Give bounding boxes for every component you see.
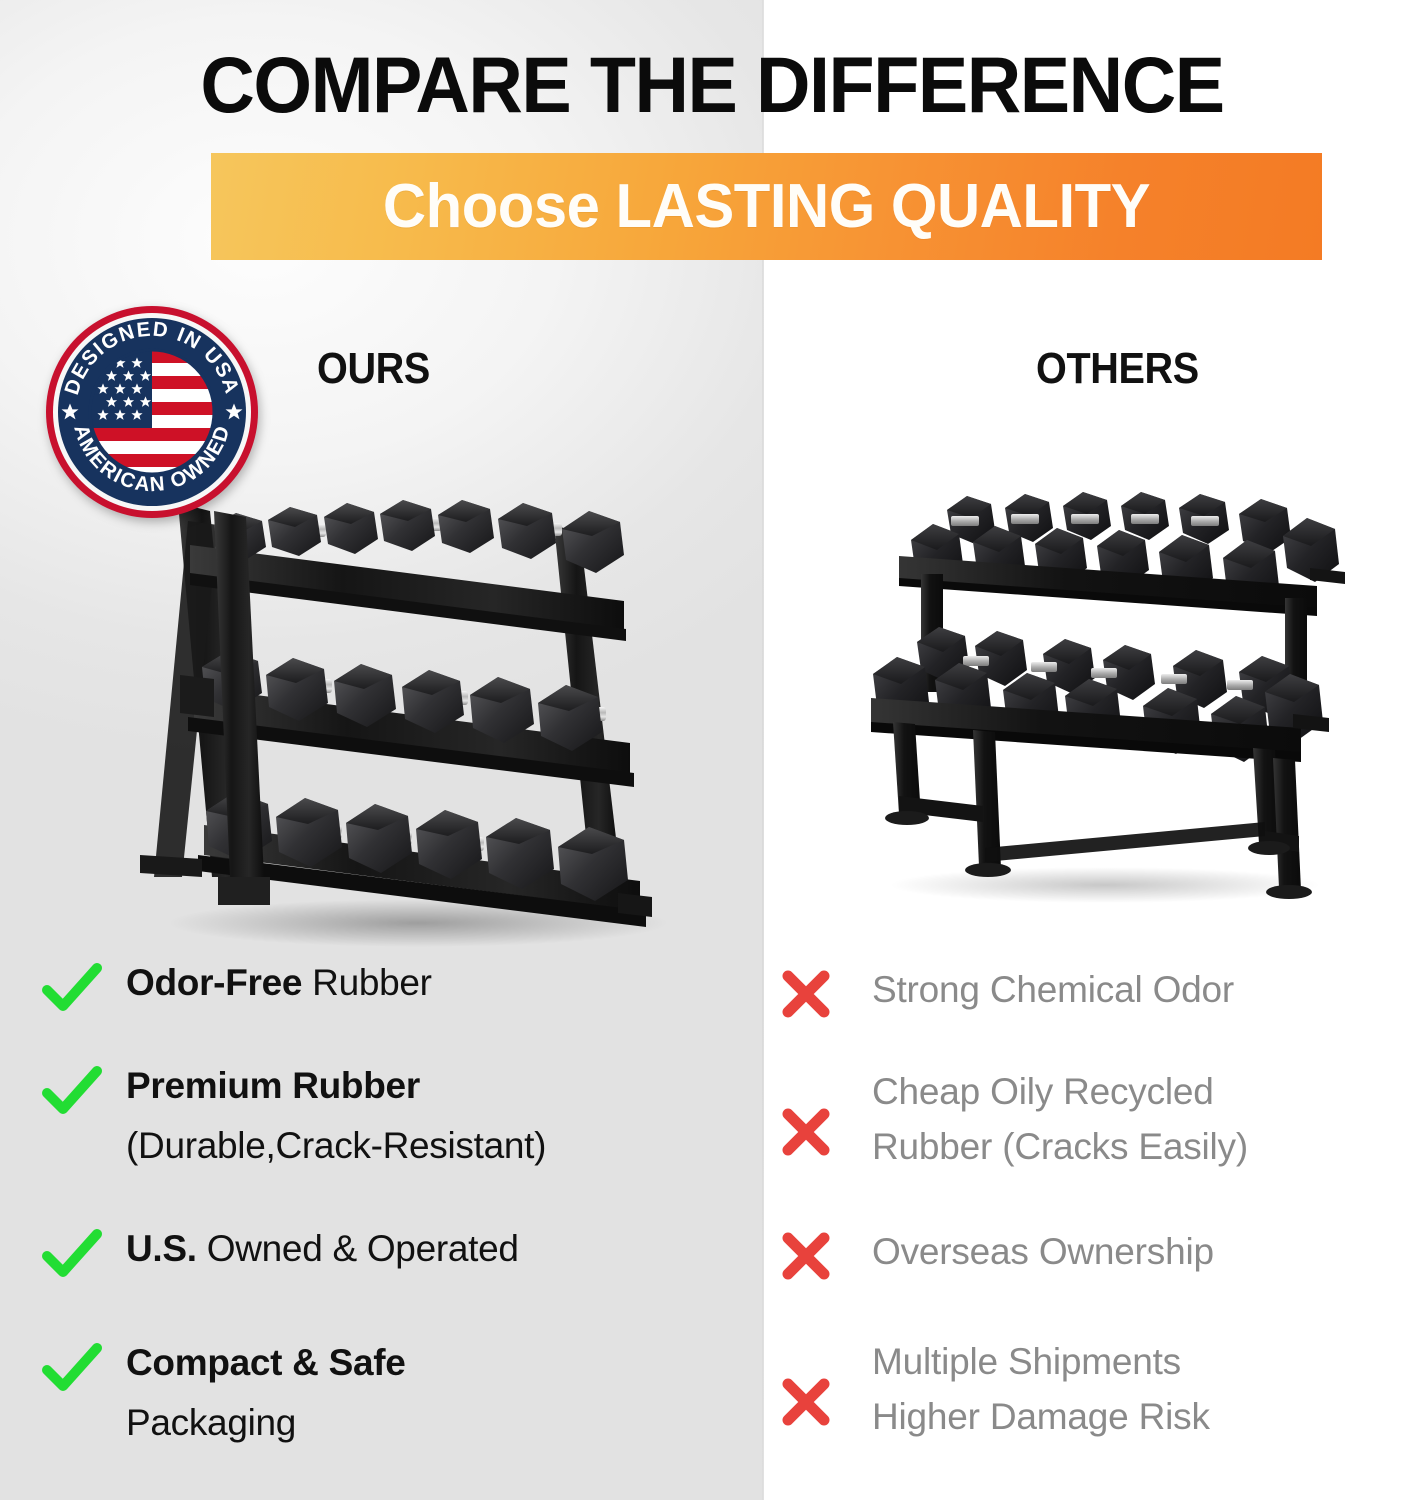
- column-header-others: OTHERS: [1036, 345, 1199, 393]
- pros-list-item: Compact & Safe Packaging: [42, 1342, 406, 1447]
- cons-list-item: Cheap Oily Recycled Rubber (Cracks Easil…: [780, 1070, 1248, 1174]
- cons-list-item: Strong Chemical Odor: [780, 968, 1234, 1020]
- pros-list-item-text: U.S. Owned & Operated: [126, 1225, 519, 1273]
- comparison-infographic: COMPARE THE DIFFERENCE Choose LASTING QU…: [0, 0, 1424, 1500]
- pros-list-item: Premium Rubber (Durable,Crack-Resistant): [42, 1065, 546, 1170]
- column-header-ours: OURS: [317, 345, 430, 393]
- check-icon: [42, 962, 102, 1014]
- page-title: COMPARE THE DIFFERENCE: [32, 42, 1392, 128]
- x-icon: [780, 1230, 832, 1282]
- x-icon: [780, 1376, 832, 1428]
- pros-list-item-text: Premium Rubber (Durable,Crack-Resistant): [126, 1062, 546, 1170]
- check-icon: [42, 1065, 102, 1117]
- product-image-others: [855, 470, 1360, 910]
- subtitle-banner-text: Choose LASTING QUALITY: [383, 176, 1150, 238]
- cons-list-item: Multiple Shipments Higher Damage Risk: [780, 1340, 1210, 1444]
- pros-list-item-text: Odor-Free Rubber: [126, 959, 432, 1007]
- cons-list-item-subtext: Rubber (Cracks Easily): [872, 1119, 1248, 1174]
- cons-list-item: Overseas Ownership: [780, 1230, 1214, 1282]
- pros-list-item: Odor-Free Rubber: [42, 962, 432, 1014]
- designed-in-usa-badge: DESIGNED IN USA AMERICAN OWNED: [43, 303, 261, 521]
- check-icon: [42, 1228, 102, 1280]
- pros-list-item-subtext: Packaging: [126, 1399, 406, 1447]
- x-icon: [780, 1106, 832, 1158]
- x-icon: [780, 968, 832, 1020]
- cons-list-item-subtext: Higher Damage Risk: [872, 1389, 1210, 1444]
- pros-list-item: U.S. Owned & Operated: [42, 1228, 519, 1280]
- pros-list-item-text: Compact & Safe Packaging: [126, 1339, 406, 1447]
- cons-list-item-text: Cheap Oily Recycled Rubber (Cracks Easil…: [872, 1064, 1248, 1174]
- cons-list-item-text: Strong Chemical Odor: [872, 962, 1234, 1017]
- check-icon: [42, 1342, 102, 1394]
- cons-list-item-text: Overseas Ownership: [872, 1224, 1214, 1279]
- pros-list-item-subtext: (Durable,Crack-Resistant): [126, 1122, 546, 1170]
- subtitle-banner: Choose LASTING QUALITY: [211, 153, 1322, 260]
- cons-list-item-text: Multiple Shipments Higher Damage Risk: [872, 1334, 1210, 1444]
